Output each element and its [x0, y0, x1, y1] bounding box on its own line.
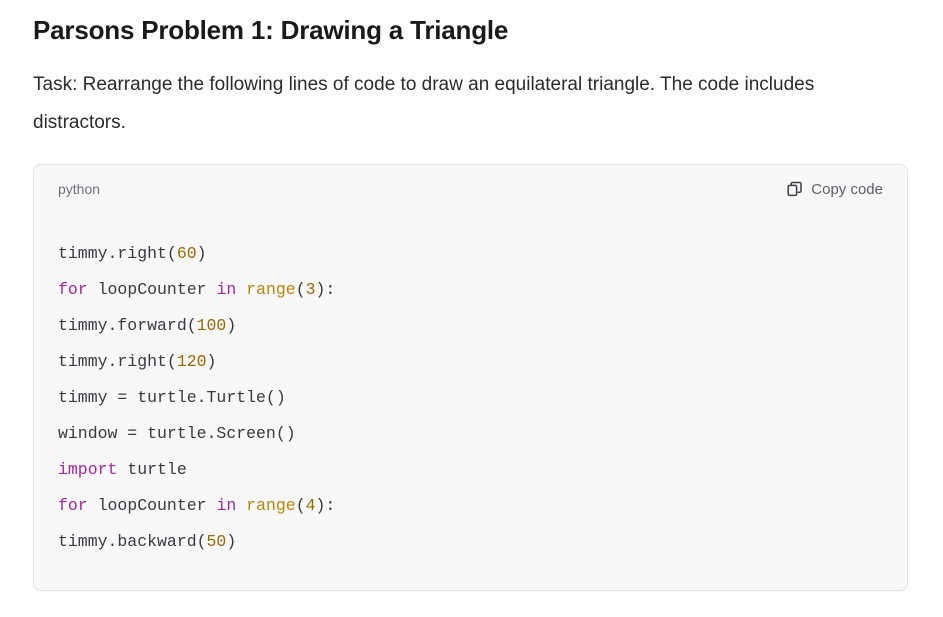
code-token-plain: ) — [226, 316, 236, 335]
code-token-number: 100 — [197, 316, 227, 335]
code-token-plain: timmy.forward( — [58, 316, 197, 335]
code-token-plain: ( — [296, 496, 306, 515]
code-line[interactable]: for loopCounter in range(3): — [58, 272, 883, 308]
code-line[interactable]: timmy = turtle.Turtle() — [58, 380, 883, 416]
page-container: Parsons Problem 1: Drawing a Triangle Ta… — [0, 0, 943, 591]
code-token-keyword: in — [216, 280, 236, 299]
code-content[interactable]: timmy.right(60)for loopCounter in range(… — [34, 202, 907, 590]
code-token-keyword: in — [216, 496, 236, 515]
code-token-plain: ) — [226, 532, 236, 551]
code-token-keyword: for — [58, 496, 88, 515]
code-token-plain: window = turtle.Screen() — [58, 424, 296, 443]
copy-code-button[interactable]: Copy code — [787, 181, 883, 198]
copy-code-label: Copy code — [811, 181, 883, 198]
code-line[interactable]: import turtle — [58, 452, 883, 488]
code-token-plain: ): — [316, 496, 336, 515]
code-token-plain: ( — [296, 280, 306, 299]
code-token-plain — [236, 280, 246, 299]
code-block: python Copy code timmy.right(60)for loop… — [33, 164, 908, 591]
code-token-number: 50 — [207, 532, 227, 551]
code-token-plain — [236, 496, 246, 515]
code-line[interactable]: timmy.right(120) — [58, 344, 883, 380]
code-block-header: python Copy code — [34, 165, 907, 202]
code-token-plain: loopCounter — [88, 496, 217, 515]
code-token-number: 3 — [306, 280, 316, 299]
code-line[interactable]: timmy.forward(100) — [58, 308, 883, 344]
page-title: Parsons Problem 1: Drawing a Triangle — [33, 0, 910, 48]
code-line[interactable]: timmy.backward(50) — [58, 524, 883, 560]
code-token-plain: ): — [316, 280, 336, 299]
code-token-keyword: import — [58, 460, 117, 479]
code-line[interactable]: for loopCounter in range(4): — [58, 488, 883, 524]
code-language-label: python — [58, 182, 100, 196]
code-token-plain: timmy.right( — [58, 352, 177, 371]
copy-icon — [787, 181, 803, 197]
code-token-plain: ) — [197, 244, 207, 263]
code-token-plain: timmy.right( — [58, 244, 177, 263]
code-token-plain: turtle — [117, 460, 186, 479]
code-token-number: 4 — [306, 496, 316, 515]
code-line[interactable]: timmy.right(60) — [58, 236, 883, 272]
code-token-number: 120 — [177, 352, 207, 371]
code-token-plain: timmy.backward( — [58, 532, 207, 551]
code-token-builtin: range — [246, 280, 296, 299]
task-description: Task: Rearrange the following lines of c… — [33, 48, 873, 142]
code-token-number: 60 — [177, 244, 197, 263]
code-token-plain: ) — [207, 352, 217, 371]
code-token-builtin: range — [246, 496, 296, 515]
code-token-keyword: for — [58, 280, 88, 299]
code-token-plain: loopCounter — [88, 280, 217, 299]
code-token-plain: timmy = turtle.Turtle() — [58, 388, 286, 407]
code-line[interactable]: window = turtle.Screen() — [58, 416, 883, 452]
